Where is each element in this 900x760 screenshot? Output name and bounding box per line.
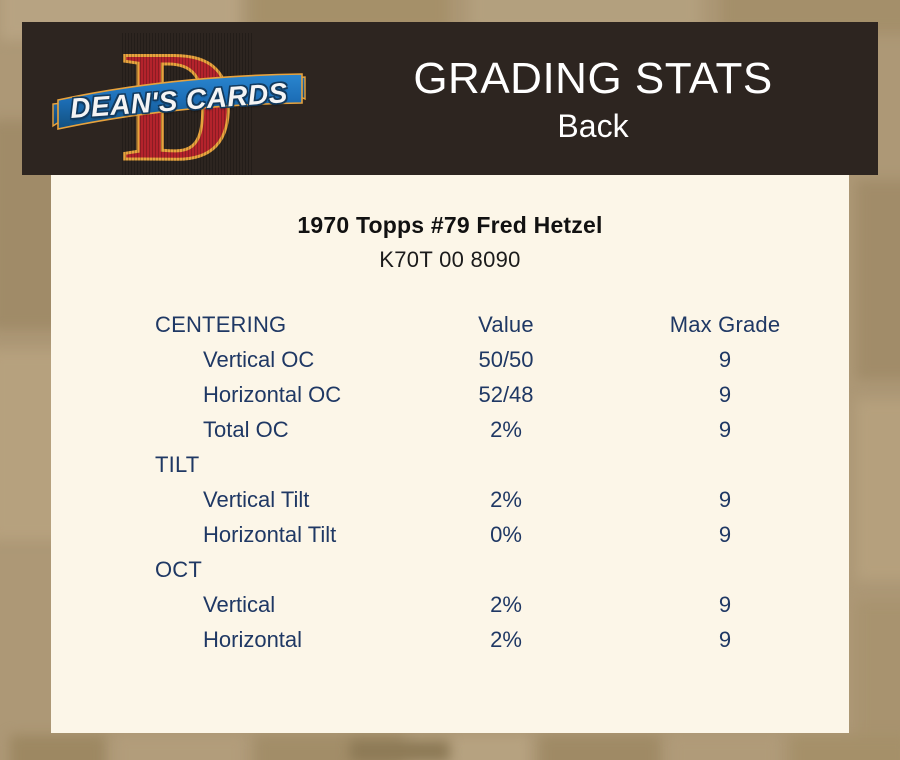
header-bar: D DEAN'S CARDS [22,22,878,175]
stats-row: Vertical Tilt2%9 [51,482,849,517]
stats-section-title: OCT [51,552,411,587]
card-serial-number: K70T 00 8090 [51,247,849,273]
stats-row-value: 2% [411,482,601,517]
stats-row: Vertical OC50/509 [51,342,849,377]
page-title: GRADING STATS [413,53,772,105]
stats-row-value: 2% [411,412,601,447]
stats-row-label: Horizontal [51,622,411,657]
stats-row-value: 52/48 [411,377,601,412]
stats-row-max-grade: 9 [601,517,849,552]
stats-section-header-row: TILT [51,447,849,482]
stats-row: Total OC2%9 [51,412,849,447]
stats-row: Horizontal OC52/489 [51,377,849,412]
stats-section-header-row: CENTERINGValueMax Grade [51,307,849,342]
stats-section-title: CENTERING [51,307,411,342]
stats-row-max-grade: 9 [601,622,849,657]
stats-row-label: Total OC [51,412,411,447]
logo-ribbon-icon: DEAN'S CARDS [50,70,308,132]
stats-row-value: 50/50 [411,342,601,377]
stats-row-label: Vertical [51,587,411,622]
column-header-value: Value [411,307,601,342]
stats-row-label: Vertical OC [51,342,411,377]
stats-row-max-grade: 9 [601,412,849,447]
stats-row-value: 0% [411,517,601,552]
stats-row-max-grade: 9 [601,377,849,412]
page-subtitle: Back [557,107,628,145]
stats-row-max-grade: 9 [601,482,849,517]
stats-row-label: Vertical Tilt [51,482,411,517]
header-title-block: GRADING STATS Back [308,22,878,175]
column-header-max-grade: Max Grade [601,307,849,342]
stats-row-value: 2% [411,622,601,657]
grading-stats-table: CENTERINGValueMax GradeVertical OC50/509… [51,307,849,657]
stats-row: Vertical2%9 [51,587,849,622]
stats-row-label: Horizontal OC [51,377,411,412]
stats-row: Horizontal2%9 [51,622,849,657]
stats-row-max-grade: 9 [601,587,849,622]
stats-section-title: TILT [51,447,411,482]
stats-section-header-row: OCT [51,552,849,587]
content-panel: 1970 Topps #79 Fred Hetzel K70T 00 8090 … [51,175,849,733]
stats-row-value: 2% [411,587,601,622]
stats-row-max-grade: 9 [601,342,849,377]
card-title: 1970 Topps #79 Fred Hetzel [51,212,849,239]
stats-row: Horizontal Tilt0%9 [51,517,849,552]
stats-row-label: Horizontal Tilt [51,517,411,552]
deans-cards-logo[interactable]: D DEAN'S CARDS [50,22,308,175]
